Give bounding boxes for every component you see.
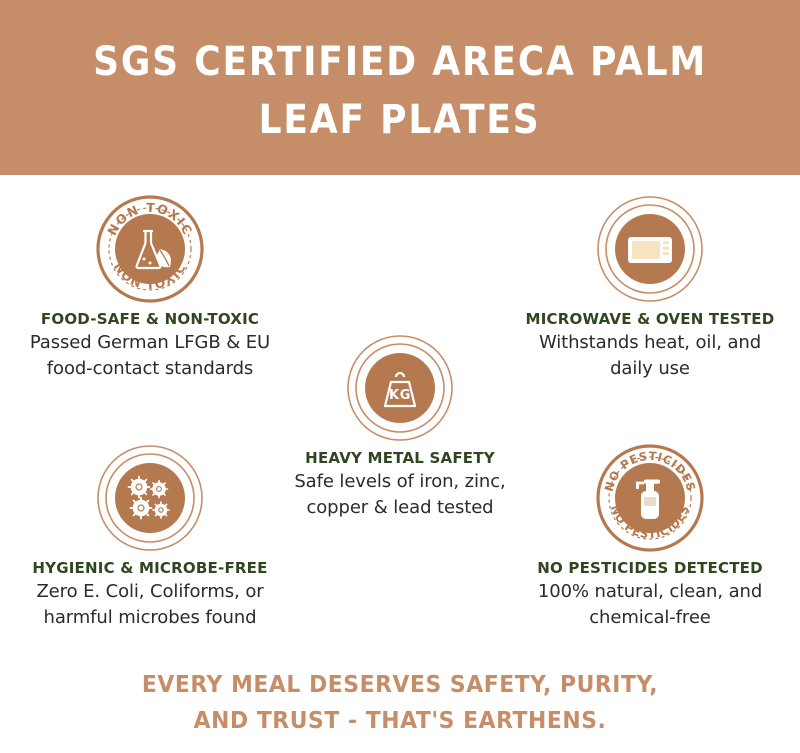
feature-title: NO PESTICIDES DETECTED (505, 559, 796, 577)
page-title-line-2: LEAF PLATES (259, 91, 541, 149)
footer-tagline-line-1: EVERY MEAL DESERVES SAFETY, PURITY, (20, 668, 780, 704)
feature-desc-line-1: Zero E. Coli, Coliforms, or (6, 579, 294, 605)
features-board: NON TOXIC NON TOXIC FOOD-SAFE & NON-TOXI… (0, 175, 800, 665)
feature-title: FOOD-SAFE & NON-TOXIC (5, 310, 296, 328)
weight-icon-label: KG (389, 388, 411, 403)
feature-card-no-pesticides: NO PESTICIDES NO PESTICIDES NO PESTICIDE… (500, 440, 800, 630)
feature-description: 100% natural, clean, and chemical-free (500, 579, 800, 630)
footer-tagline: EVERY MEAL DESERVES SAFETY, PURITY, AND … (0, 668, 800, 739)
feature-desc-line-2: chemical-free (506, 605, 794, 631)
feature-title: HYGIENIC & MICROBE-FREE (5, 559, 296, 577)
no-pesticides-stamp-icon: NO PESTICIDES NO PESTICIDES (500, 440, 800, 555)
non-toxic-stamp-icon: NON TOXIC NON TOXIC (0, 191, 300, 306)
feature-desc-line-1: 100% natural, clean, and (506, 579, 794, 605)
feature-description: Zero E. Coli, Coliforms, or harmful micr… (0, 579, 300, 630)
microwave-oven-icon (500, 191, 800, 306)
microbes-icon (0, 440, 300, 555)
footer-tagline-line-2: AND TRUST - THAT'S EARTHENS. (20, 704, 780, 740)
header-banner: SGS CERTIFIED ARECA PALM LEAF PLATES (0, 0, 800, 175)
feature-title: MICROWAVE & OVEN TESTED (505, 310, 796, 328)
feature-desc-line-2: harmful microbes found (6, 605, 294, 631)
weight-kg-icon: KG (250, 330, 550, 445)
page-title-line-1: SGS CERTIFIED ARECA PALM (93, 33, 707, 91)
feature-card-hygienic: HYGIENIC & MICROBE-FREE Zero E. Coli, Co… (0, 440, 300, 630)
